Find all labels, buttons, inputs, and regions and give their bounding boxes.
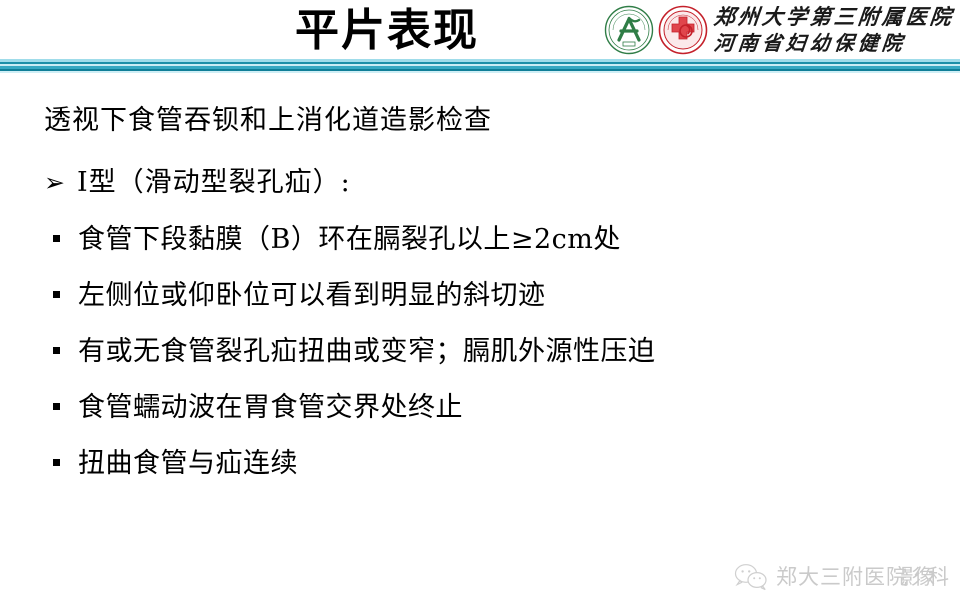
square-bullet-icon <box>53 459 60 466</box>
findings-list: 食管下段黏膜（B）环在膈裂孔以上≥2cm处 左侧位或仰卧位可以看到明显的斜切迹 … <box>44 222 924 482</box>
square-bullet-icon <box>53 291 60 298</box>
hospital-seal-icon <box>658 5 708 55</box>
list-item: 食管蠕动波在胃食管交界处终止 <box>44 390 924 426</box>
slide-header: 平片表现 郑州大学第三附属医院 河南 <box>0 0 960 60</box>
wechat-icon <box>734 562 768 592</box>
square-bullet-icon <box>53 347 60 354</box>
hospital-name-line-2: 河南省妇幼保健院 <box>713 30 956 56</box>
hospital-branding: 郑州大学第三附属医院 河南省妇幼保健院 <box>604 2 954 58</box>
presentation-slide: 平片表现 郑州大学第三附属医院 河南 <box>0 0 960 604</box>
list-item-label: 有或无食管裂孔疝扭曲或变窄；膈肌外源性压迫 <box>78 334 656 370</box>
watermark-text-overlap: 院影像科 <box>886 565 942 589</box>
lead-statement: 透视下食管吞钡和上消化道造影检查 <box>44 104 924 138</box>
header-divider <box>0 59 960 73</box>
wechat-watermark: 郑大三附医院影像科 <box>734 562 942 592</box>
type-heading-label: Ⅰ型（滑动型裂孔疝）: <box>77 166 351 200</box>
list-item: 左侧位或仰卧位可以看到明显的斜切迹 <box>44 278 924 314</box>
watermark-label: 郑大三附医院影像科 <box>776 565 942 589</box>
university-seal-icon <box>604 5 654 55</box>
hospital-name-block: 郑州大学第三附属医院 河南省妇幼保健院 <box>714 3 954 57</box>
hospital-name-line-1: 郑州大学第三附属医院 <box>713 4 956 30</box>
arrow-bullet-icon: ➢ <box>44 166 65 200</box>
list-item: 食管下段黏膜（B）环在膈裂孔以上≥2cm处 <box>44 222 924 258</box>
slide-body: 透视下食管吞钡和上消化道造影检查 ➢ Ⅰ型（滑动型裂孔疝）: 食管下段黏膜（B）… <box>44 104 924 502</box>
page-title: 平片表现 <box>222 5 552 57</box>
list-item: 扭曲食管与疝连续 <box>44 446 924 482</box>
divider-band-6 <box>0 71 960 73</box>
list-item-label: 左侧位或仰卧位可以看到明显的斜切迹 <box>78 278 546 314</box>
list-item-label: 食管下段黏膜（B）环在膈裂孔以上≥2cm处 <box>78 222 621 258</box>
square-bullet-icon <box>53 403 60 410</box>
list-item: 有或无食管裂孔疝扭曲或变窄；膈肌外源性压迫 <box>44 334 924 370</box>
watermark-text-main: 郑大三附医 <box>776 565 886 589</box>
square-bullet-icon <box>53 235 60 242</box>
list-item-label: 食管蠕动波在胃食管交界处终止 <box>78 390 463 426</box>
type-heading: ➢ Ⅰ型（滑动型裂孔疝）: <box>44 166 924 200</box>
list-item-label: 扭曲食管与疝连续 <box>78 446 298 482</box>
